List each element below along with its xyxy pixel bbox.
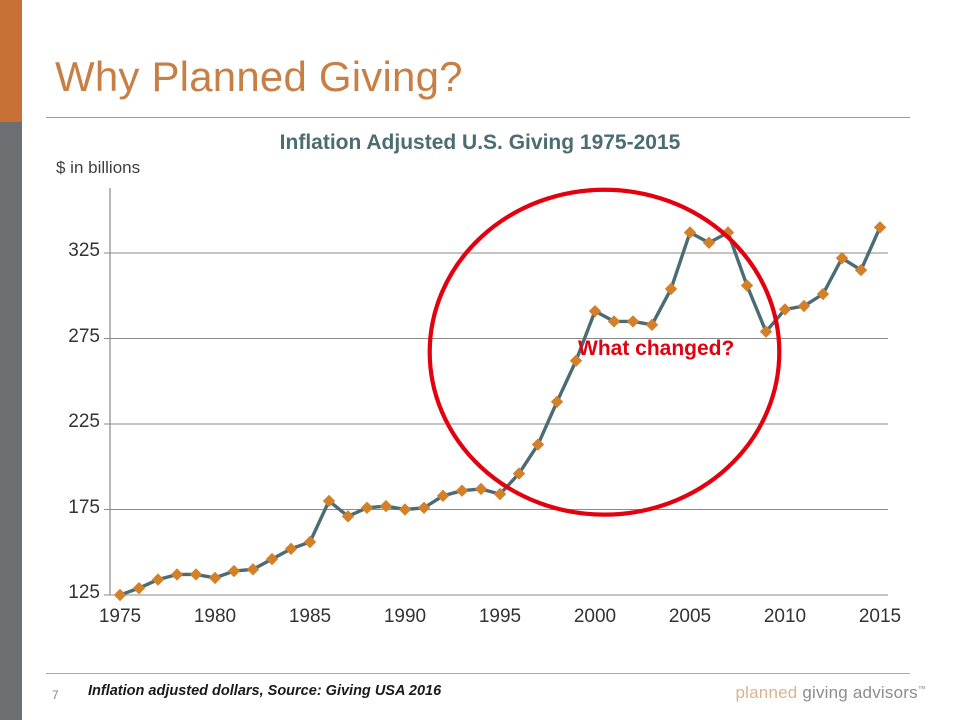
page-number: 7	[52, 688, 59, 702]
data-point-marker	[741, 279, 753, 291]
data-point-marker	[190, 568, 202, 580]
footer-divider	[46, 673, 910, 674]
x-axis-tick-label: 1990	[370, 606, 440, 628]
data-point-marker	[722, 226, 734, 238]
callout-what-changed: What changed?	[578, 337, 734, 361]
data-point-marker	[342, 510, 354, 522]
gridlines	[110, 253, 888, 595]
data-point-marker	[114, 589, 126, 601]
data-point-marker	[266, 553, 278, 565]
page-title: Why Planned Giving?	[55, 53, 463, 101]
accent-bar-gray	[0, 122, 22, 720]
data-markers	[114, 221, 886, 601]
data-point-marker	[798, 300, 810, 312]
accent-bar-orange	[0, 0, 22, 122]
data-point-marker	[779, 303, 791, 315]
data-point-marker	[665, 283, 677, 295]
data-point-marker	[456, 484, 468, 496]
data-point-marker	[513, 467, 525, 479]
y-axis-unit-label: $ in billions	[56, 158, 140, 178]
data-point-marker	[285, 543, 297, 555]
data-line-path	[120, 227, 880, 595]
brand-logo-rest: giving advisors	[797, 683, 917, 702]
data-point-marker	[817, 288, 829, 300]
y-axis-tick-label: 325	[48, 240, 100, 262]
data-line	[120, 227, 880, 595]
x-axis-tick-label: 2005	[655, 606, 725, 628]
brand-logo: planned giving advisors™	[736, 683, 926, 703]
data-point-marker	[361, 502, 373, 514]
data-point-marker	[209, 572, 221, 584]
data-point-marker	[475, 483, 487, 495]
data-point-marker	[171, 568, 183, 580]
data-point-marker	[627, 315, 639, 327]
title-divider	[46, 117, 910, 118]
y-axis-tick-label: 125	[48, 582, 100, 604]
x-axis-tick-label: 2010	[750, 606, 820, 628]
data-point-marker	[836, 252, 848, 264]
brand-logo-trademark: ™	[918, 684, 926, 693]
y-axis-tick-label: 225	[48, 411, 100, 433]
data-point-marker	[703, 237, 715, 249]
brand-logo-planned: planned	[736, 683, 798, 702]
data-point-marker	[551, 396, 563, 408]
data-point-marker	[437, 490, 449, 502]
data-point-marker	[304, 536, 316, 548]
x-axis-tick-label: 2000	[560, 606, 630, 628]
data-point-marker	[380, 500, 392, 512]
x-axis-tick-label: 1975	[85, 606, 155, 628]
x-axis-tick-label: 2015	[845, 606, 915, 628]
x-axis-tick-label: 1995	[465, 606, 535, 628]
data-point-marker	[133, 582, 145, 594]
data-point-marker	[418, 502, 430, 514]
y-axis-tick-label: 275	[48, 326, 100, 348]
data-point-marker	[247, 563, 259, 575]
data-point-marker	[760, 325, 772, 337]
chart-title: Inflation Adjusted U.S. Giving 1975-2015	[0, 131, 960, 155]
data-point-marker	[323, 495, 335, 507]
x-axis-tick-label: 1985	[275, 606, 345, 628]
data-point-marker	[684, 226, 696, 238]
x-axis-tick-label: 1980	[180, 606, 250, 628]
data-point-marker	[589, 305, 601, 317]
data-point-marker	[228, 565, 240, 577]
data-point-marker	[608, 315, 620, 327]
data-point-marker	[874, 221, 886, 233]
y-tick-marks	[104, 253, 110, 595]
data-point-marker	[494, 488, 506, 500]
data-point-marker	[532, 438, 544, 450]
data-point-marker	[152, 573, 164, 585]
y-axis-tick-label: 175	[48, 497, 100, 519]
data-point-marker	[399, 503, 411, 515]
footer-source-note: Inflation adjusted dollars, Source: Givi…	[88, 683, 441, 699]
data-point-marker	[646, 319, 658, 331]
slide-canvas: Why Planned Giving? Inflation Adjusted U…	[0, 0, 960, 720]
data-point-marker	[855, 264, 867, 276]
